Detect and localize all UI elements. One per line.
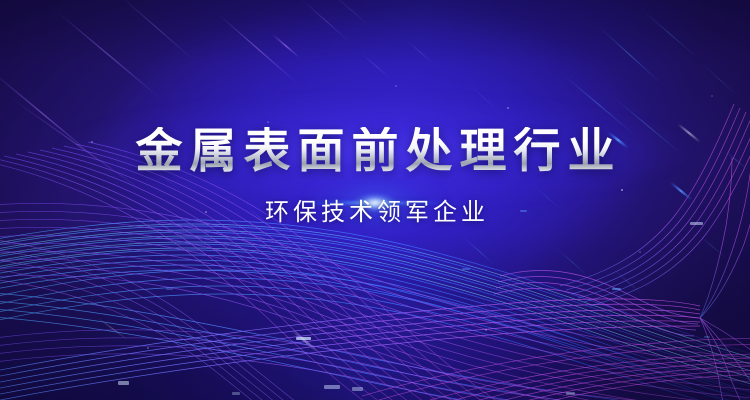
banner-subtitle: 环保技术领军企业 — [261, 201, 489, 225]
banner-text-block: 金属表面前处理行业 环保技术领军企业 — [0, 0, 750, 400]
banner-title: 金属表面前处理行业 — [129, 127, 622, 174]
promo-banner: 金属表面前处理行业 环保技术领军企业 — [0, 0, 750, 400]
